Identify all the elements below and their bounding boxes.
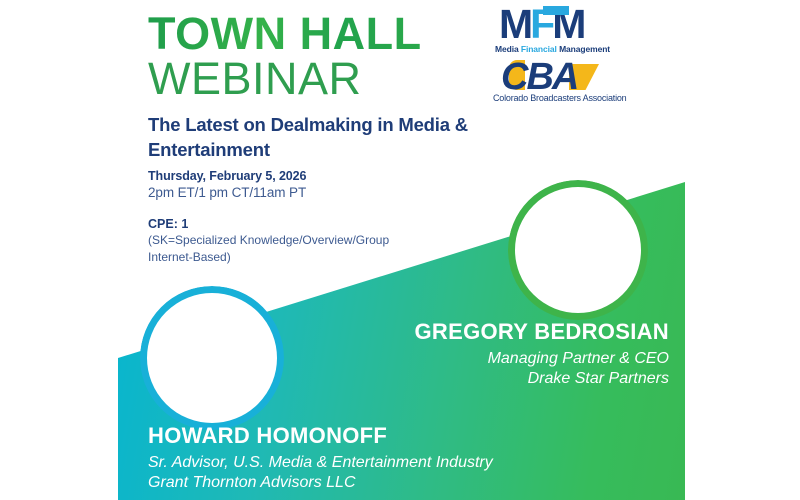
webinar-promo-banner: TOWN HALL WEBINAR MFM Media Financial Ma… xyxy=(0,0,800,500)
webinar-time: 2pm ET/1 pm CT/11am PT xyxy=(148,185,528,200)
mfm-tagline-financial: Financial xyxy=(521,44,559,54)
cba-logo-letters: CBA xyxy=(501,58,577,96)
headline-line-2: WEBINAR xyxy=(148,57,422,101)
speaker-gregory-bedrosian: GREGORY BEDROSIAN Managing Partner & CEO… xyxy=(415,320,669,390)
speaker-howard-homonoff: HOWARD HOMONOFF Sr. Advisor, U.S. Media … xyxy=(148,424,493,494)
avatar-ring-gregory xyxy=(508,180,648,320)
headline-line-1: TOWN HALL xyxy=(148,12,422,56)
speaker-organization: Grant Thornton Advisors LLC xyxy=(148,473,493,493)
mfm-accent-bar xyxy=(543,6,569,15)
cpe-note: (SK=Specialized Knowledge/Overview/Group… xyxy=(148,232,413,265)
page-title: TOWN HALL WEBINAR xyxy=(148,12,422,101)
logo-stack: MFM Media Financial Management CBA Color… xyxy=(487,4,621,108)
speaker-name: HOWARD HOMONOFF xyxy=(148,424,493,449)
mfm-tagline-media: Media xyxy=(495,44,521,54)
mfm-letter-m1: M xyxy=(499,1,530,47)
cpe-credit: CPE: 1 xyxy=(148,217,528,231)
webinar-date: Thursday, February 5, 2026 xyxy=(148,169,528,183)
mfm-tagline: Media Financial Management xyxy=(495,44,610,54)
mfm-tagline-management: Management xyxy=(559,44,610,54)
mfm-logo: MFM Media Financial Management xyxy=(487,4,621,54)
speaker-name: GREGORY BEDROSIAN xyxy=(415,320,669,345)
webinar-title: The Latest on Dealmaking in Media & Ente… xyxy=(148,113,528,162)
avatar-gregory-bedrosian xyxy=(508,180,648,320)
speaker-role: Sr. Advisor, U.S. Media & Entertainment … xyxy=(148,453,493,473)
cba-tagline: Colorado Broadcasters Association xyxy=(493,93,626,103)
avatar-howard-homonoff xyxy=(140,286,284,430)
speaker-organization: Drake Star Partners xyxy=(415,369,669,389)
speaker-role: Managing Partner & CEO xyxy=(415,349,669,369)
webinar-info-block: The Latest on Dealmaking in Media & Ente… xyxy=(148,113,528,265)
avatar-ring-howard xyxy=(140,286,284,430)
cba-logo: CBA Colorado Broadcasters Association xyxy=(487,58,621,108)
mfm-logo-letters: MFM xyxy=(499,4,583,45)
